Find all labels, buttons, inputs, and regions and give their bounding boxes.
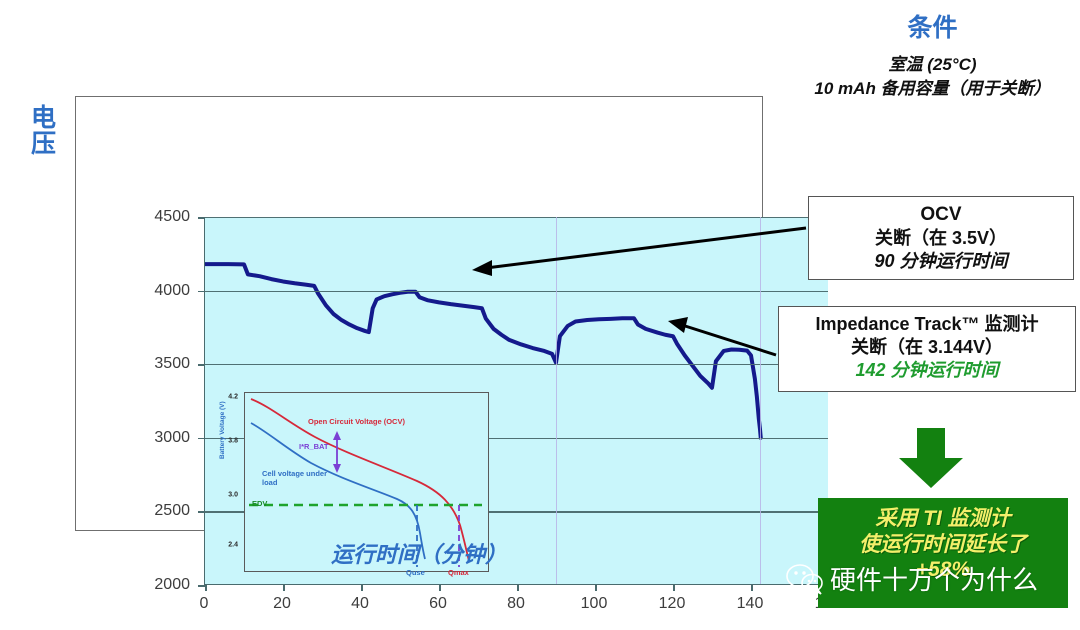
x-tick-mark [517, 584, 519, 591]
y-tick-label: 4000 [138, 282, 190, 300]
x-axis-title: 运行时间（分钟） [75, 537, 763, 569]
inset-ytick-4-2: 4.2 [216, 394, 238, 401]
x-tick-mark [751, 584, 753, 591]
inset-ir-drop-label: I*R_BAT [299, 442, 328, 451]
gridline-h [205, 217, 828, 218]
x-tick-mark [673, 584, 675, 591]
inset-load-label: Cell voltage under load [262, 469, 334, 488]
chart-panel: 2000250030003500400045000204060801001201… [75, 96, 763, 531]
callout-it-title: Impedance Track™ 监测计 [779, 313, 1075, 336]
inset-ocv-label: Open Circuit Voltage (OCV) [308, 417, 405, 426]
y-tick-label: 3000 [138, 429, 190, 447]
x-tick-label: 120 [659, 595, 686, 613]
x-tick-label: 0 [200, 595, 209, 613]
callout-impedance-track: Impedance Track™ 监测计 关断（在 3.144V） 142 分钟… [778, 306, 1076, 392]
x-tick-mark [205, 584, 207, 591]
y-tick-mark [198, 438, 205, 440]
y-tick-label: 3500 [138, 355, 190, 373]
gridline-h [205, 364, 828, 365]
conditions-reserve-capacity: 10 mAh 备用容量（用于关断） [790, 78, 1075, 100]
y-tick-mark [198, 291, 205, 293]
x-tick-mark [361, 584, 363, 591]
conditions-title: 条件 [790, 8, 1075, 44]
y-tick-label: 4500 [138, 208, 190, 226]
y-tick-mark [198, 217, 205, 219]
slide-root: 2000250030003500400045000204060801001201… [0, 0, 1080, 630]
y-tick-label: 2500 [138, 502, 190, 520]
callout-ocv-cutoff: 关断（在 3.5V） [809, 227, 1073, 250]
y-tick-mark [198, 585, 205, 587]
callout-it-runtime: 142 分钟运行时间 [779, 359, 1075, 382]
conditions-temperature: 室温 (25°C) [790, 50, 1075, 75]
callout-ocv: OCV 关断（在 3.5V） 90 分钟运行时间 [808, 196, 1074, 280]
inset-qmax-label: Qmax [448, 568, 469, 577]
banner-line-1: 采用 TI 监测计 [818, 506, 1068, 532]
x-tick-mark [595, 584, 597, 591]
ocv-cutoff-vline [556, 217, 557, 584]
x-tick-label: 80 [507, 595, 525, 613]
y-tick-mark [198, 364, 205, 366]
x-tick-label: 60 [429, 595, 447, 613]
x-tick-mark [439, 584, 441, 591]
watermark: 硬件十万个为什么 [786, 560, 1038, 597]
inset-ytick-3-0: 3.0 [216, 492, 238, 499]
inset-edv-label: EDV [252, 499, 267, 508]
gridline-h [205, 291, 828, 292]
y-tick-label: 2000 [138, 576, 190, 594]
x-tick-mark [283, 584, 285, 591]
callout-it-cutoff: 关断（在 3.144V） [779, 336, 1075, 359]
x-tick-label: 40 [351, 595, 369, 613]
callout-ocv-runtime: 90 分钟运行时间 [809, 250, 1073, 273]
inset-quse-label: Quse [406, 568, 425, 577]
inset-y-axis-label: Battery Voltage (V) [219, 401, 226, 459]
y-tick-mark [198, 511, 205, 513]
watermark-text: 硬件十万个为什么 [830, 560, 1038, 597]
y-axis-title: 电压 [24, 105, 64, 158]
x-tick-label: 140 [737, 595, 764, 613]
x-tick-label: 100 [581, 595, 608, 613]
it-cutoff-vline [760, 217, 761, 584]
conditions-block: 条件 室温 (25°C) 10 mAh 备用容量（用于关断） [790, 8, 1075, 100]
x-tick-label: 20 [273, 595, 291, 613]
down-arrow-icon [895, 428, 967, 490]
wechat-icon [786, 563, 824, 595]
callout-ocv-title: OCV [809, 203, 1073, 227]
banner-line-2: 使运行时间延长了 [818, 532, 1068, 558]
